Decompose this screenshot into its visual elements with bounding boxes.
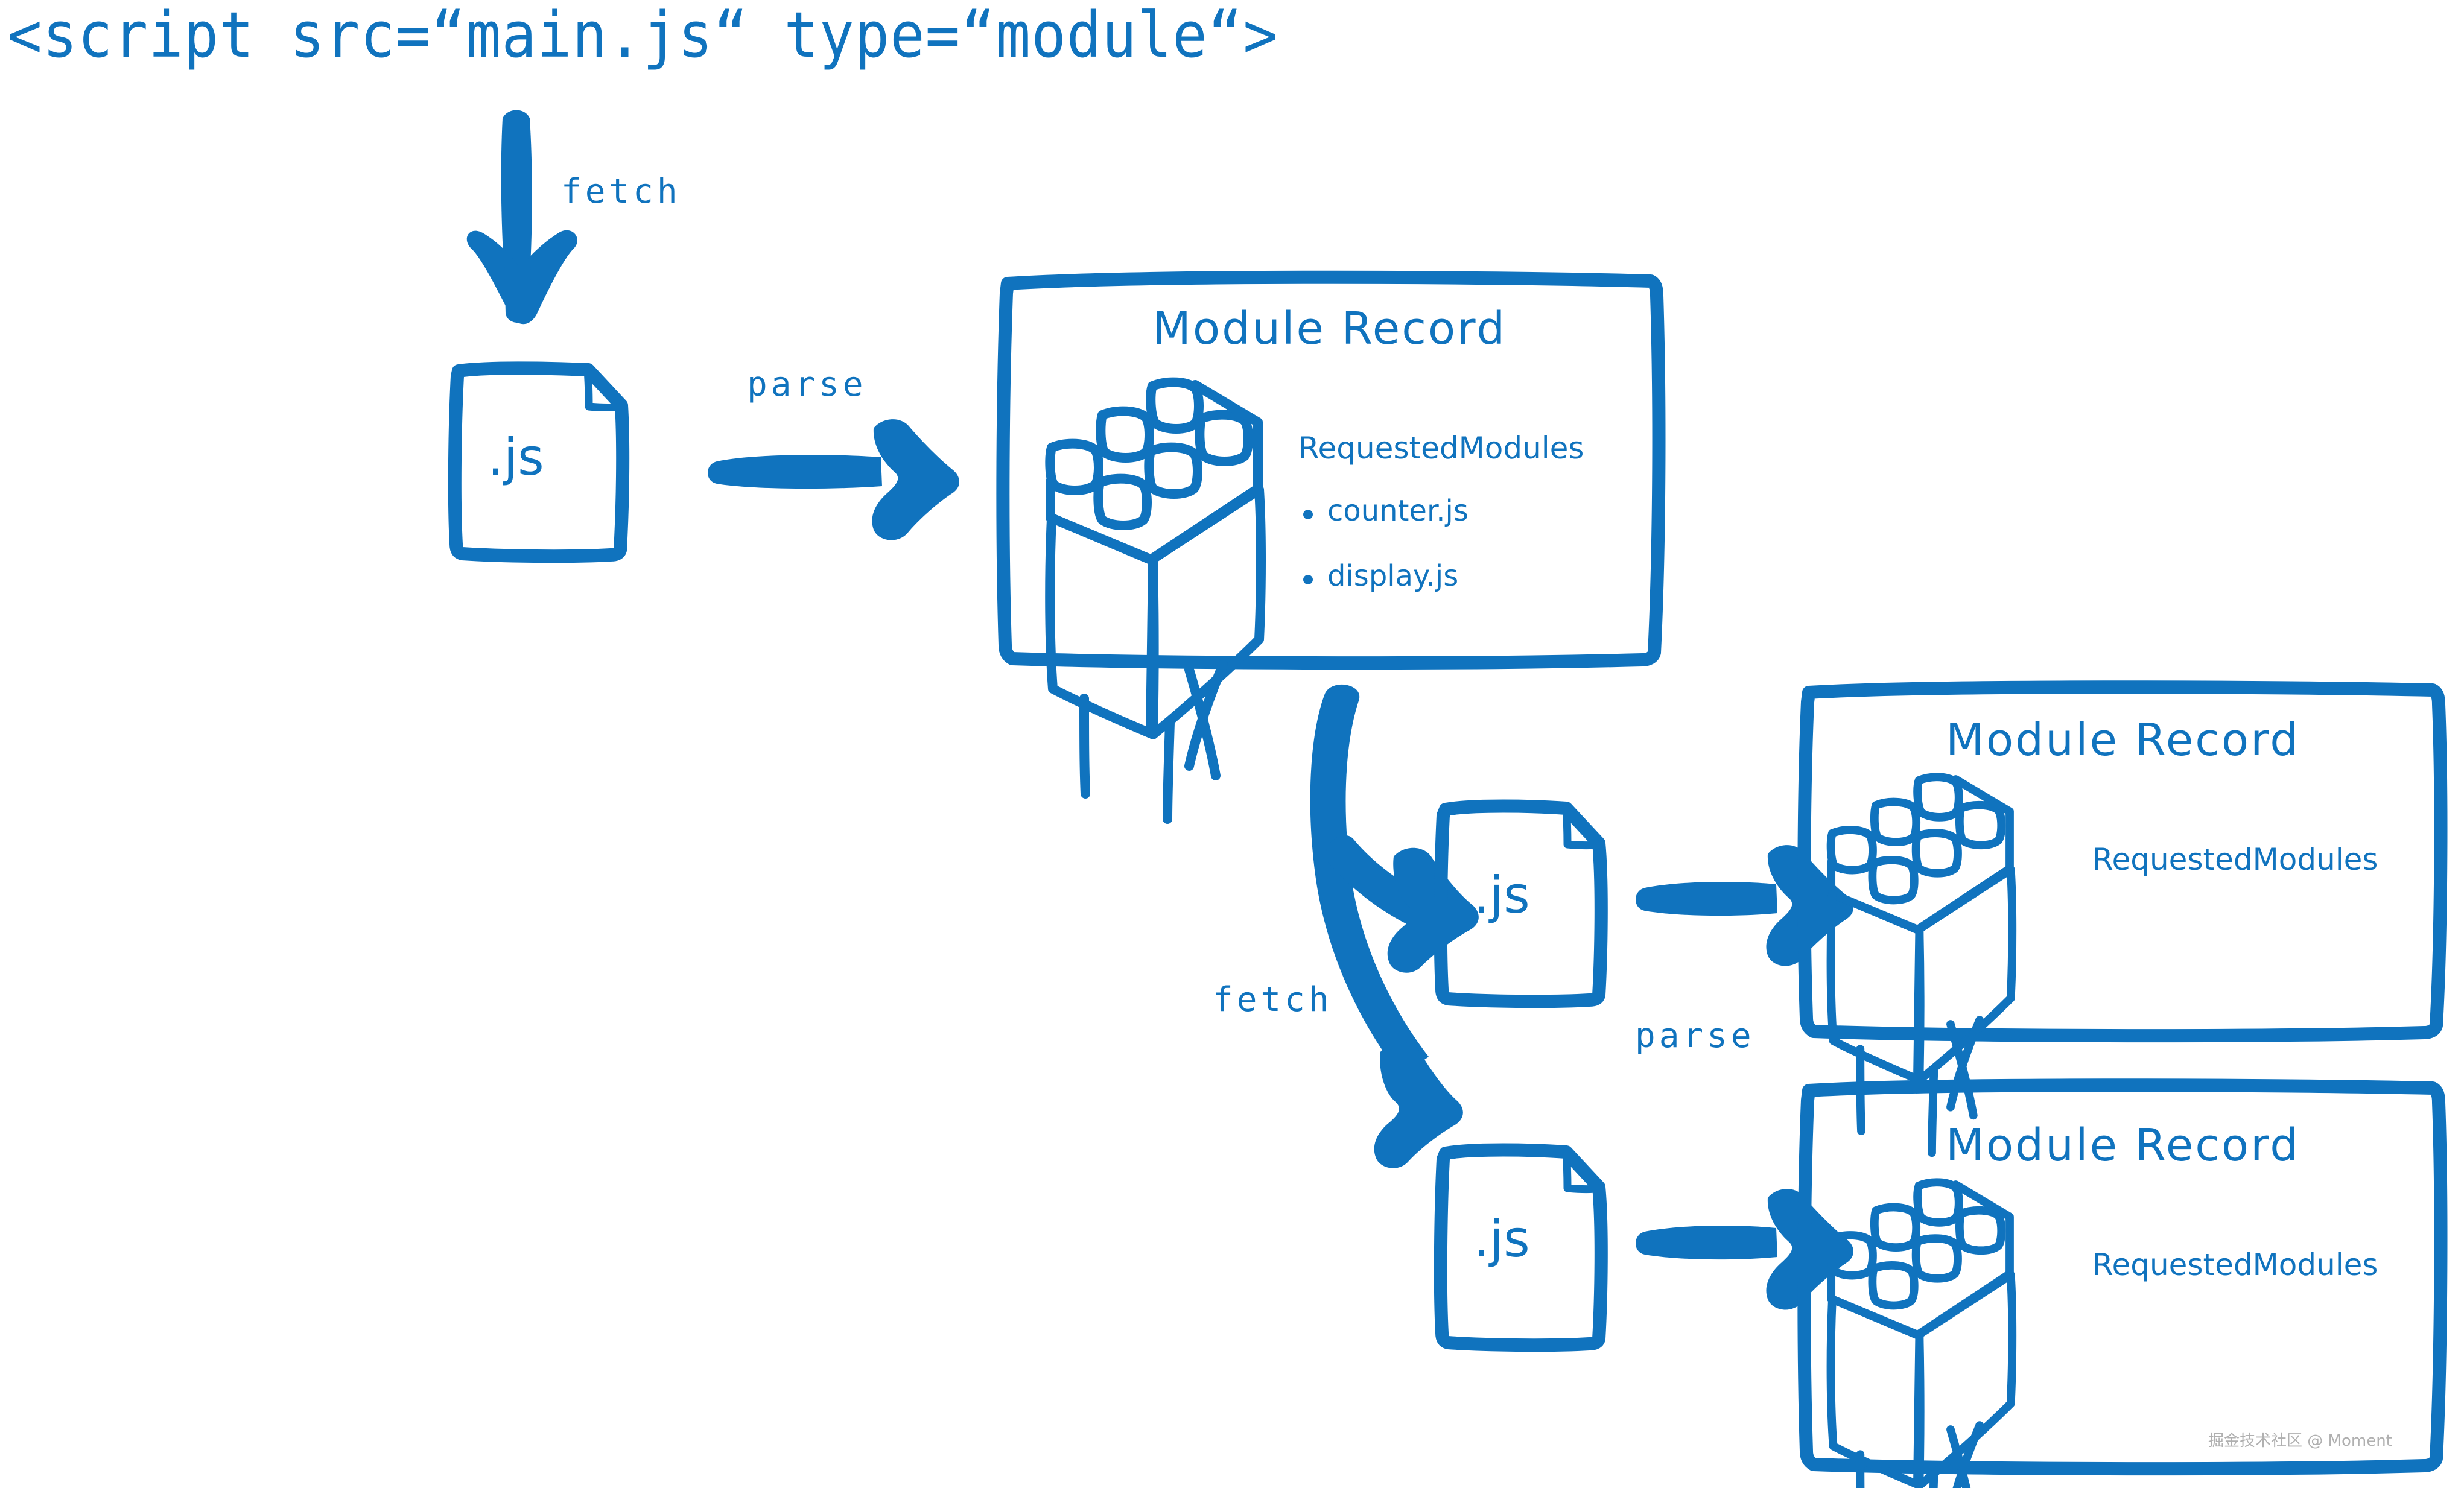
module-record-title-1: Module Record bbox=[1152, 306, 1507, 351]
diagram-canvas: <script src=“main.js“ type=“module“> .s{… bbox=[0, 0, 2464, 1488]
lego-brick-icon-3 bbox=[1831, 1182, 2012, 1488]
parse-arrow-child2 bbox=[1636, 1189, 1853, 1309]
js-file-label-child1: .js bbox=[1473, 870, 1530, 920]
fetch-branch-arrow bbox=[1310, 685, 1479, 1168]
edge-label-fetch-top: fetch bbox=[561, 175, 681, 209]
module-record-title-3: Module Record bbox=[1946, 1123, 2300, 1168]
js-file-label-child2: .js bbox=[1473, 1214, 1530, 1264]
lego-brick-icon-1 bbox=[1050, 382, 1261, 819]
module-record-title-2: Module Record bbox=[1946, 718, 2300, 762]
parse-arrow-child1 bbox=[1636, 845, 1853, 966]
requested-module-item-counter: counter.js bbox=[1327, 496, 1469, 525]
requested-module-item-display: display.js bbox=[1327, 562, 1458, 590]
watermark: 掘金技术社区 @ Moment bbox=[2208, 1428, 2392, 1451]
fetch-arrow-top bbox=[467, 110, 577, 325]
edge-label-fetch-branch: fetch bbox=[1213, 983, 1333, 1017]
edge-label-parse-branch: parse bbox=[1635, 1019, 1755, 1053]
js-file-label-main: .js bbox=[487, 432, 544, 483]
requested-modules-label-2: RequestedModules bbox=[2092, 844, 2378, 875]
requested-modules-label-1: RequestedModules bbox=[1298, 433, 1584, 463]
bullet-marker bbox=[1303, 575, 1313, 584]
bullet-marker bbox=[1303, 510, 1313, 519]
parse-arrow-top bbox=[708, 419, 959, 540]
lego-brick-icon-2 bbox=[1831, 777, 2012, 1153]
requested-modules-label-3: RequestedModules bbox=[2092, 1250, 2378, 1280]
edge-label-parse-top: parse bbox=[747, 368, 867, 402]
